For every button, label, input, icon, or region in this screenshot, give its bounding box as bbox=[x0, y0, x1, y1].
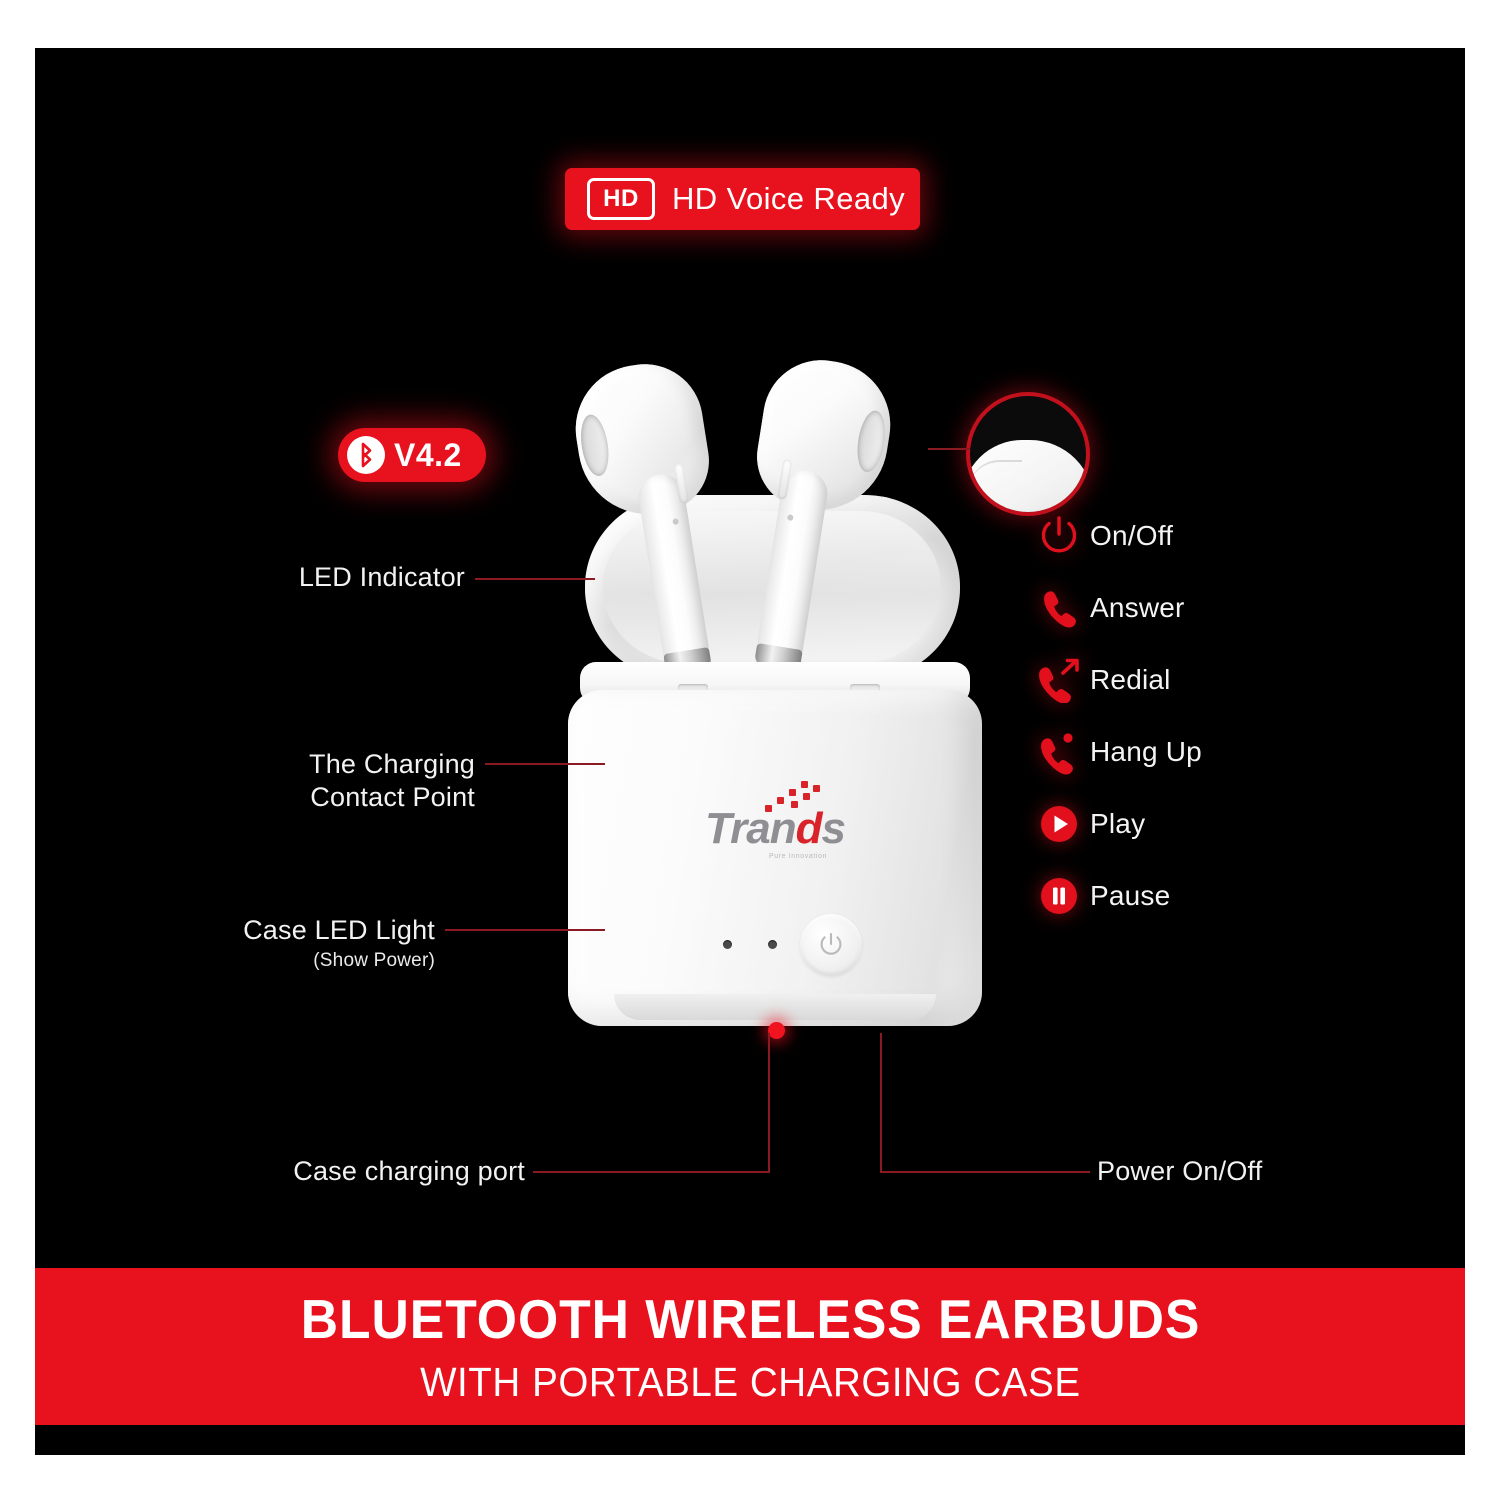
leader-line-magnifier bbox=[928, 448, 970, 450]
power-icon bbox=[1028, 508, 1090, 564]
feature-label: Redial bbox=[1090, 664, 1171, 696]
feature-label: On/Off bbox=[1090, 520, 1173, 552]
charging-port-marker bbox=[768, 1022, 785, 1039]
earbud-left bbox=[567, 356, 742, 682]
infographic-stage: HD HD Voice Ready V4.2 bbox=[0, 0, 1500, 1500]
feature-redial: Redial bbox=[1028, 644, 1328, 716]
bluetooth-version-badge: V4.2 bbox=[338, 428, 486, 482]
bluetooth-icon bbox=[347, 436, 385, 474]
callout-case-led-label: Case LED Light bbox=[243, 915, 435, 945]
hd-mark-icon: HD bbox=[587, 178, 655, 220]
callout-power-onoff-label: Power On/Off bbox=[1097, 1156, 1262, 1186]
case-power-button[interactable] bbox=[800, 914, 862, 976]
brand-tagline: Pure Innovation bbox=[769, 853, 827, 860]
banner-subtitle: WITH PORTABLE CHARGING CASE bbox=[420, 1359, 1081, 1406]
magnifier-mic-dot bbox=[976, 496, 983, 503]
callout-charging-port-label: Case charging port bbox=[293, 1156, 525, 1186]
feature-play: Play bbox=[1028, 788, 1328, 860]
callout-charging-contact: The Charging Contact Point bbox=[225, 748, 475, 814]
feature-pause: Pause bbox=[1028, 860, 1328, 932]
charging-case-base bbox=[614, 994, 936, 1020]
feature-answer: Answer bbox=[1028, 572, 1328, 644]
brand-name-part1: Trands bbox=[705, 804, 845, 853]
banner-title: BLUETOOTH WIRELESS EARBUDS bbox=[300, 1287, 1200, 1351]
feature-on-off: On/Off bbox=[1028, 500, 1328, 572]
hd-badge-label: HD Voice Ready bbox=[672, 181, 905, 217]
feature-list: On/Off Answer Redial bbox=[1028, 500, 1328, 932]
leader-line-power-horizontal bbox=[880, 1171, 1090, 1173]
earbud-detail-magnifier bbox=[966, 392, 1090, 516]
brand-logo-wordmark: Trands bbox=[705, 807, 845, 851]
leader-line-case-led bbox=[445, 929, 605, 931]
leader-line-charging-contact bbox=[485, 763, 605, 765]
black-panel: HD HD Voice Ready V4.2 bbox=[35, 48, 1465, 1455]
case-led-dot-1 bbox=[723, 940, 732, 949]
hd-voice-badge: HD HD Voice Ready bbox=[565, 168, 920, 230]
feature-hang-up: Hang Up bbox=[1028, 716, 1328, 788]
earbud-right-stem bbox=[754, 467, 831, 672]
leader-line-port-vertical bbox=[768, 1033, 770, 1173]
brand-logo-dots bbox=[761, 781, 823, 811]
play-icon bbox=[1028, 796, 1090, 852]
phone-hangup-icon bbox=[1028, 724, 1090, 780]
feature-label: Play bbox=[1090, 808, 1145, 840]
callout-charging-contact-line1: The Charging bbox=[309, 749, 475, 779]
leader-line-led-indicator bbox=[475, 578, 595, 580]
feature-label: Hang Up bbox=[1090, 736, 1202, 768]
case-led-dot-2 bbox=[768, 940, 777, 949]
bottom-banner: BLUETOOTH WIRELESS EARBUDS WITH PORTABLE… bbox=[35, 1268, 1465, 1425]
feature-label: Pause bbox=[1090, 880, 1170, 912]
callout-power-onoff: Power On/Off bbox=[1097, 1155, 1387, 1188]
feature-label: Answer bbox=[1090, 592, 1185, 624]
pause-icon bbox=[1028, 868, 1090, 924]
callout-led-indicator-label: LED Indicator bbox=[299, 562, 465, 592]
bluetooth-version-label: V4.2 bbox=[394, 437, 462, 474]
leader-line-power-vertical bbox=[880, 1033, 882, 1173]
phone-arrow-icon bbox=[1028, 652, 1090, 708]
callout-charging-port: Case charging port bbox=[235, 1155, 525, 1188]
product-illustration: Trands Pure Innovation bbox=[540, 350, 1020, 1040]
banner-bottom-strip bbox=[35, 1425, 1465, 1455]
charging-case-body: Trands Pure Innovation bbox=[568, 690, 982, 1026]
phone-icon bbox=[1028, 580, 1090, 636]
callout-charging-contact-line2: Contact Point bbox=[310, 782, 475, 812]
brand-logo: Trands Pure Innovation bbox=[568, 794, 982, 872]
brand-name-accent-letter: d bbox=[796, 804, 822, 853]
callout-led-indicator: LED Indicator bbox=[225, 561, 465, 594]
callout-case-led-sub: (Show Power) bbox=[185, 949, 435, 972]
earbud-left-stem bbox=[635, 471, 712, 676]
leader-line-port-horizontal bbox=[533, 1171, 770, 1173]
magnifier-contour-line bbox=[968, 460, 1022, 492]
callout-case-led: Case LED Light (Show Power) bbox=[185, 914, 435, 972]
